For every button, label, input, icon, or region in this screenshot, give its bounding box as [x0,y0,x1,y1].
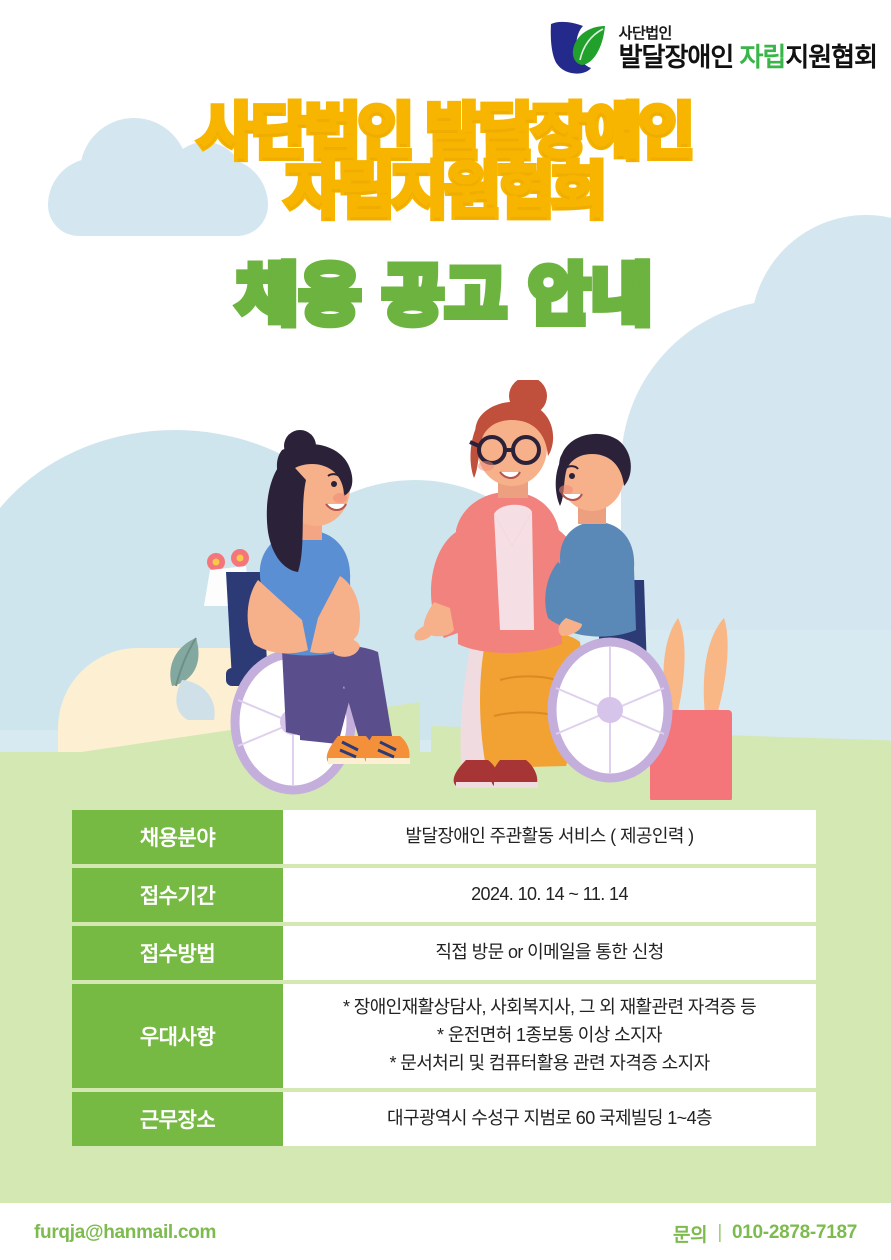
logo-green-part: 자립 [739,42,785,72]
wheelchair-wheel-right [552,642,668,778]
preferred-line-2: * 운전면허 1종보통 이상 소지자 [295,1022,804,1050]
logo-black-a: 발달장애인 [619,42,740,72]
poster-subheadline: 채용 공고 안내 [0,262,891,328]
row-label-preferred: 우대사항 [72,984,283,1088]
row-label-period: 접수기간 [72,868,283,922]
footer-contact-label: 문의 [673,1220,707,1247]
row-label-location: 근무장소 [72,1092,283,1146]
orange-shoes-icon [327,736,410,764]
organization-logo: 사단법인 발달장애인 자립지원협회 [545,18,877,78]
headline-line-2: 자립지원협회 [0,163,891,222]
row-value-field: 발달장애인 주관활동 서비스 ( 제공인력 ) [283,810,816,864]
row-value-preferred: * 장애인재활상담사, 사회복지사, 그 외 재활관련 자격증 등 * 운전면허… [283,984,816,1088]
preferred-line-3: * 문서처리 및 컴퓨터활용 관련 자격증 소지자 [295,1050,804,1078]
row-value-method: 직접 방문 or 이메일을 통한 신청 [283,926,816,980]
recruitment-info-table: 채용분야 발달장애인 주관활동 서비스 ( 제공인력 ) 접수기간 2024. … [72,806,816,1150]
recruitment-poster: 사단법인 발달장애인 자립지원협회 사단법인 발달장애인 자립지원협회 채용 공… [0,0,891,1260]
wheelchair-users-illustration [0,380,891,800]
row-label-field: 채용분야 [72,810,283,864]
footer-email[interactable]: furqja@hanmail.com [34,1222,216,1244]
logo-black-b: 지원협회 [785,42,877,72]
leaf-plant-icon [170,638,214,720]
poster-footer: furqja@hanmail.com 문의 | 010-2878-7187 [0,1215,891,1251]
table-row: 채용분야 발달장애인 주관활동 서비스 ( 제공인력 ) [72,810,816,864]
logo-text-block: 사단법인 발달장애인 자립지원협회 [619,26,877,70]
row-value-period: 2024. 10. 14 ~ 11. 14 [283,868,816,922]
row-value-location: 대구광역시 수성구 지범로 60 국제빌딩 1~4층 [283,1092,816,1146]
headline-line-1: 사단법인 발달장애인 [199,99,692,166]
footer-separator: | [717,1222,722,1244]
table-row: 근무장소 대구광역시 수성구 지범로 60 국제빌딩 1~4층 [72,1092,816,1146]
row-label-method: 접수방법 [72,926,283,980]
poster-headline: 사단법인 발달장애인 자립지원협회 [0,104,891,222]
logo-line-2: 발달장애인 자립지원협회 [619,44,877,70]
woman-in-wheelchair-figure [204,430,410,800]
logo-line-1: 사단법인 [619,26,877,41]
leaf-logo-icon [545,18,611,78]
preferred-line-1: * 장애인재활상담사, 사회복지사, 그 외 재활관련 자격증 등 [295,994,804,1022]
table-row: 우대사항 * 장애인재활상담사, 사회복지사, 그 외 재활관련 자격증 등 *… [72,984,816,1088]
boy-in-wheelchair-figure [545,434,668,778]
table-row: 접수기간 2024. 10. 14 ~ 11. 14 [72,868,816,922]
table-row: 접수방법 직접 방문 or 이메일을 통한 신청 [72,926,816,980]
footer-phone[interactable]: 010-2878-7187 [732,1222,857,1244]
footer-contact-group: 문의 | 010-2878-7187 [673,1220,857,1247]
